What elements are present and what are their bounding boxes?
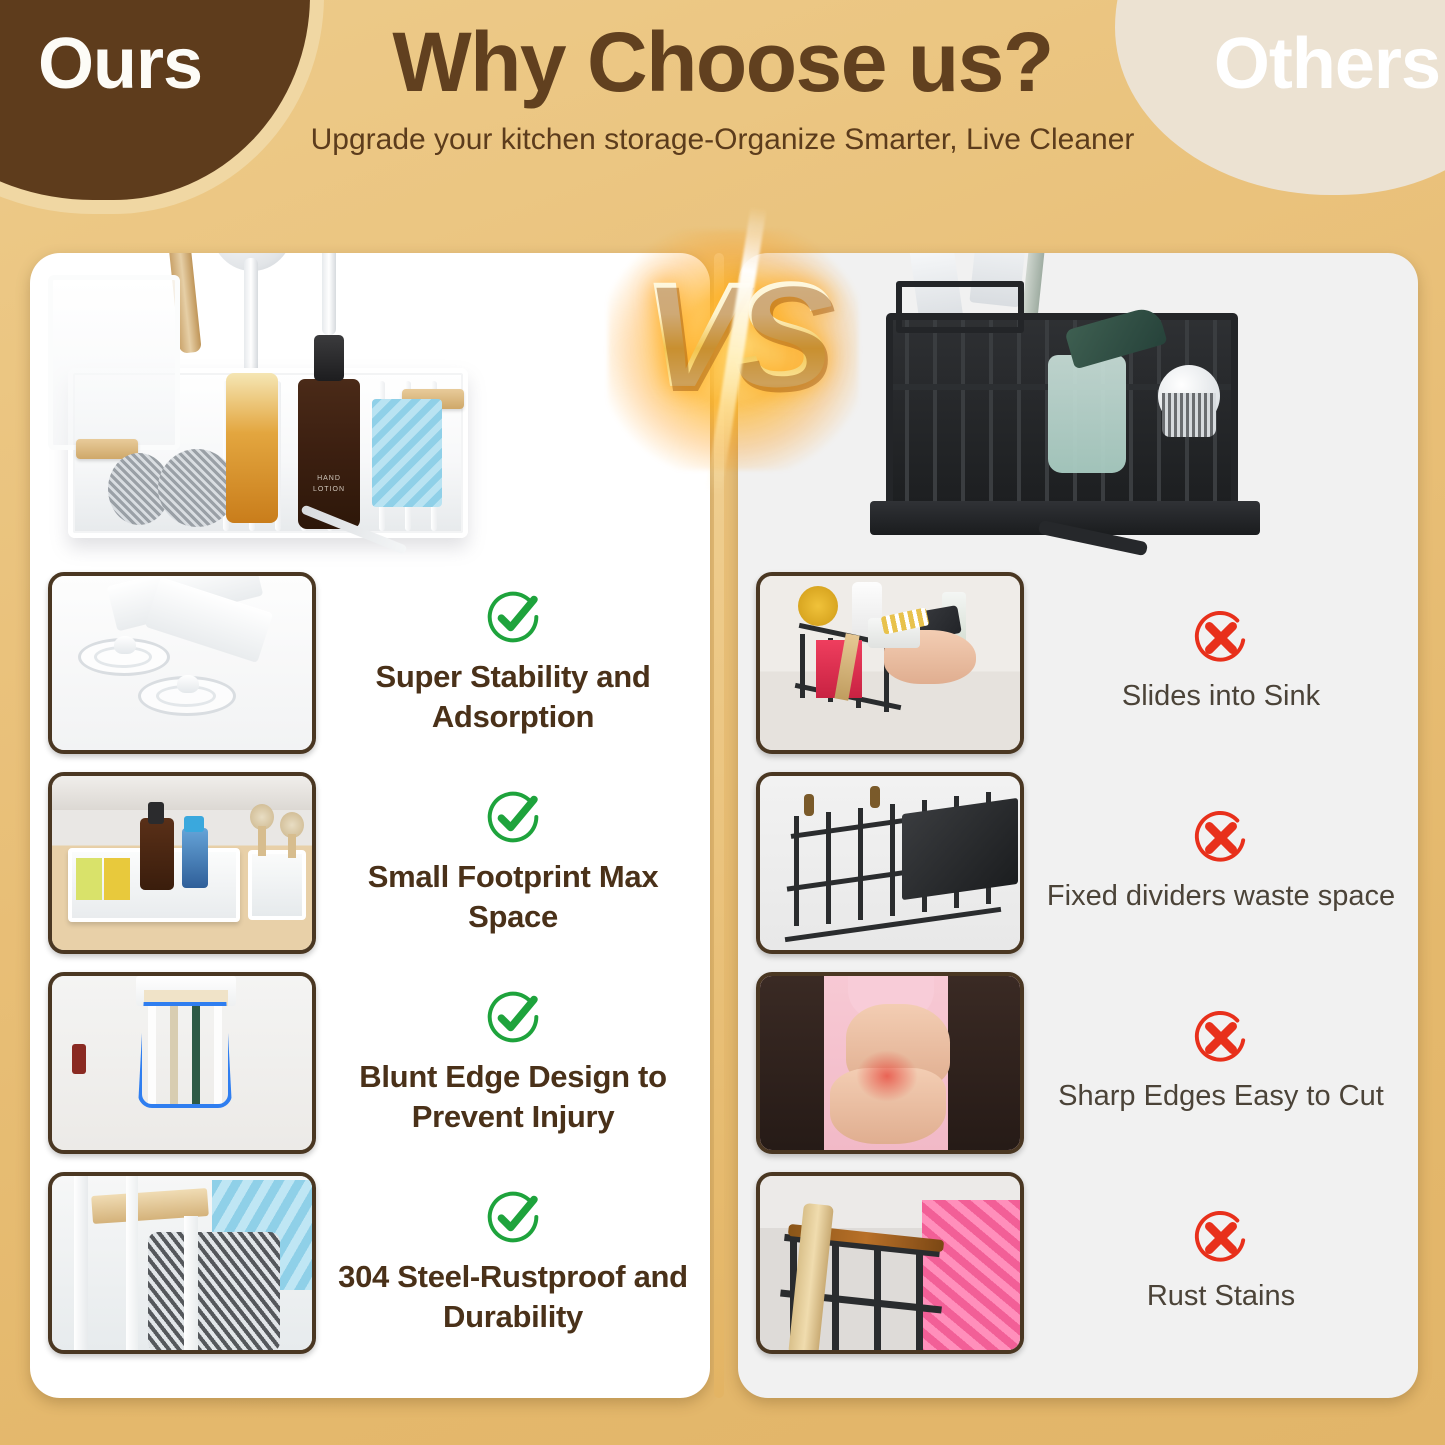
- cross-circle-icon: [1038, 1010, 1404, 1066]
- feature-label: Rust Stains: [1038, 1278, 1404, 1316]
- cross-circle-icon: [1038, 610, 1404, 666]
- feature-label: Fixed dividers waste space: [1038, 878, 1404, 916]
- check-circle-icon: [330, 589, 696, 645]
- feature-text-block: 304 Steel-Rustproof and Durability: [316, 1189, 710, 1336]
- page-title: Why Choose us?: [0, 14, 1445, 111]
- check-circle-icon: [330, 789, 696, 845]
- feature-text-block: Super Stability and Adsorption: [316, 589, 710, 736]
- feature-label: Blunt Edge Design to Prevent Injury: [330, 1057, 696, 1136]
- check-circle-icon: [330, 1189, 696, 1245]
- feature-text-block: Fixed dividers waste space: [1024, 810, 1418, 916]
- feature-label: 304 Steel-Rustproof and Durability: [330, 1257, 696, 1336]
- cross-circle-icon: [1038, 810, 1404, 866]
- feature-thumbnail: [756, 572, 1024, 754]
- feature-thumbnail: [48, 772, 316, 954]
- bottle-label: HANDLOTION: [308, 474, 350, 495]
- vs-badge: VS: [588, 200, 878, 500]
- feature-thumbnail: [756, 1172, 1024, 1354]
- feature-label: Slides into Sink: [1038, 678, 1404, 716]
- feature-text-block: Rust Stains: [1024, 1210, 1418, 1316]
- feature-thumbnail: [48, 972, 316, 1154]
- feature-row: Super Stability and Adsorption: [30, 563, 710, 763]
- page-subtitle: Upgrade your kitchen storage-Organize Sm…: [0, 118, 1445, 162]
- feature-text-block: Blunt Edge Design to Prevent Injury: [316, 989, 710, 1136]
- feature-label: Sharp Edges Easy to Cut: [1038, 1078, 1404, 1116]
- feature-row: Slides into Sink: [738, 563, 1418, 763]
- ours-feature-list: Super Stability and Adsorption: [30, 563, 710, 1363]
- feature-thumbnail: [48, 572, 316, 754]
- feature-text-block: Sharp Edges Easy to Cut: [1024, 1010, 1418, 1116]
- check-circle-icon: [330, 989, 696, 1045]
- feature-row: 304 Steel-Rustproof and Durability: [30, 1163, 710, 1363]
- feature-thumbnail: [48, 1172, 316, 1354]
- others-feature-list: Slides into Sink: [738, 563, 1418, 1363]
- cross-circle-icon: [1038, 1210, 1404, 1266]
- feature-text-block: Slides into Sink: [1024, 610, 1418, 716]
- feature-label: Super Stability and Adsorption: [330, 657, 696, 736]
- ours-rack-utensil-slot: [48, 275, 180, 450]
- feature-row: Sharp Edges Easy to Cut: [738, 963, 1418, 1163]
- feature-thumbnail: [756, 772, 1024, 954]
- feature-row: Fixed dividers waste space: [738, 763, 1418, 963]
- feature-row: Rust Stains: [738, 1163, 1418, 1363]
- feature-thumbnail: [756, 972, 1024, 1154]
- feature-label: Small Footprint Max Space: [330, 857, 696, 936]
- feature-row: Blunt Edge Design to Prevent Injury: [30, 963, 710, 1163]
- feature-text-block: Small Footprint Max Space: [316, 789, 710, 936]
- feature-row: Small Footprint Max Space: [30, 763, 710, 963]
